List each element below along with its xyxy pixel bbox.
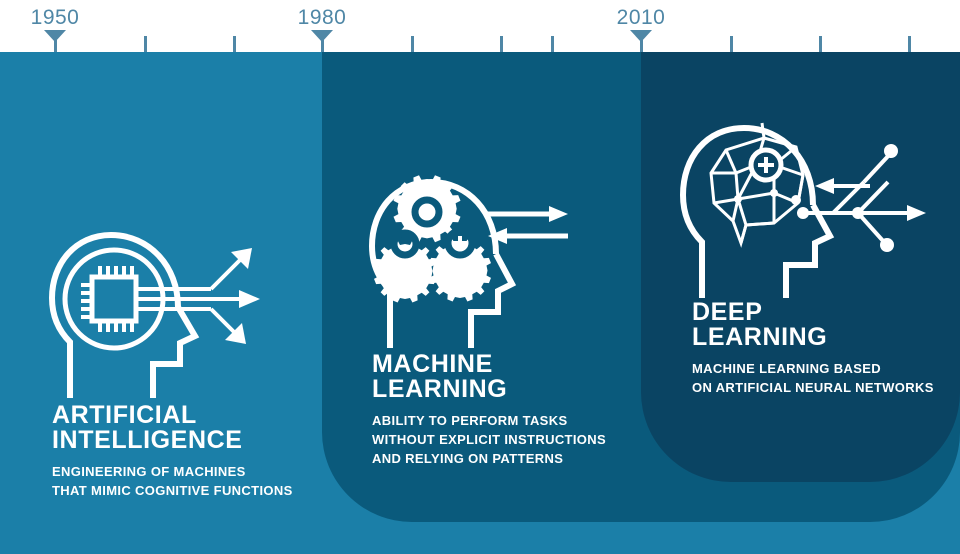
timeline-year-label: 2010 xyxy=(617,6,666,30)
timeline-tick xyxy=(908,36,911,52)
timeline-tick xyxy=(144,36,147,52)
timeline-tick xyxy=(233,36,236,52)
text-block-artificial-intelligence: ARTIFICIAL INTELLIGENCE ENGINEERING OF M… xyxy=(52,403,293,500)
head-with-cpu-chip-icon xyxy=(48,208,278,403)
timeline-year-label: 1950 xyxy=(31,6,80,30)
timeline-tick xyxy=(551,36,554,52)
description-artificial-intelligence: ENGINEERING OF MACHINES THAT MIMIC COGNI… xyxy=(52,462,293,500)
timeline-tick xyxy=(819,36,822,52)
timeline-tick xyxy=(411,36,414,52)
text-block-machine-learning: MACHINE LEARNING ABILITY TO PERFORM TASK… xyxy=(372,352,606,468)
timeline-year-label: 1980 xyxy=(298,6,347,30)
text-block-deep-learning: DEEP LEARNING MACHINE LEARNING BASED ON … xyxy=(692,300,934,397)
head-with-gears-icon xyxy=(368,158,583,353)
infographic-ai-ml-dl: 1950 1980 2010 xyxy=(0,0,960,554)
heading-artificial-intelligence: ARTIFICIAL INTELLIGENCE xyxy=(52,403,293,453)
timeline-tick xyxy=(500,36,503,52)
heading-deep-learning: DEEP LEARNING xyxy=(692,300,934,350)
gear-icon xyxy=(374,241,436,303)
head-with-neural-network-icon xyxy=(678,103,928,303)
neural-mesh xyxy=(711,123,803,243)
description-machine-learning: ABILITY TO PERFORM TASKS WITHOUT EXPLICI… xyxy=(372,411,606,468)
description-deep-learning: MACHINE LEARNING BASED ON ARTIFICIAL NEU… xyxy=(692,359,934,397)
timeline: 1950 1980 2010 xyxy=(0,0,960,52)
timeline-tick xyxy=(730,36,733,52)
heading-machine-learning: MACHINE LEARNING xyxy=(372,352,606,402)
